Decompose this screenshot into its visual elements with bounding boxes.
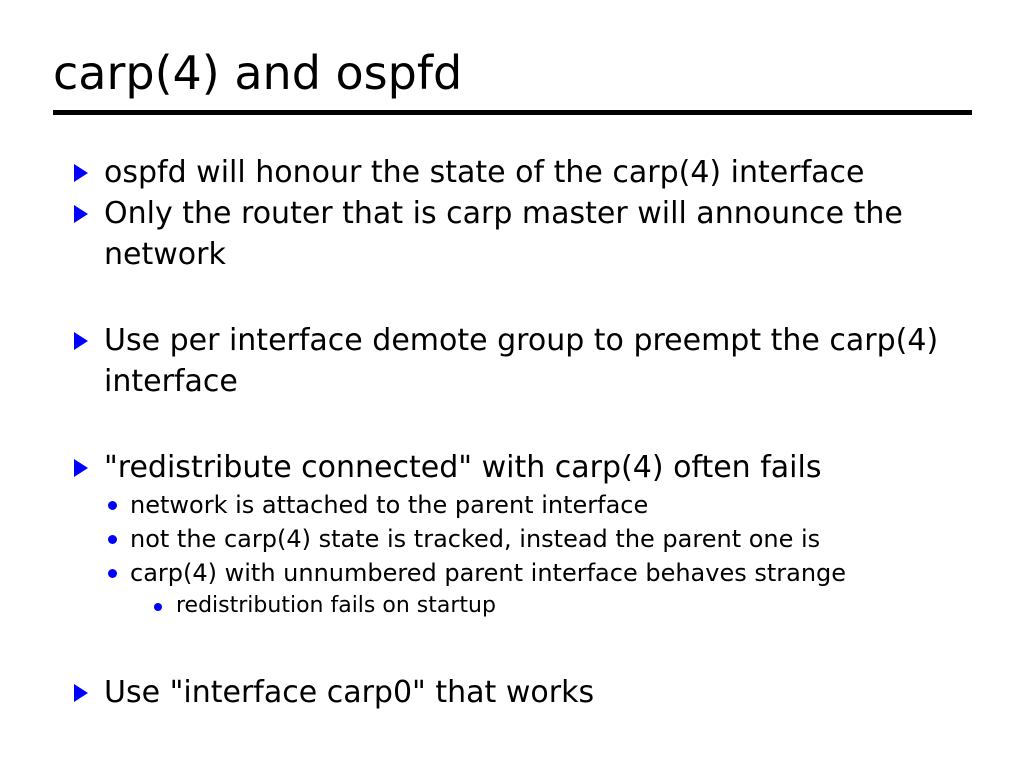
dot-bullet-icon	[108, 569, 117, 578]
spacer	[0, 275, 1024, 320]
list-item-label: not the carp(4) state is tracked, instea…	[130, 522, 984, 556]
list-item: Use per interface demote group to preemp…	[0, 320, 1024, 402]
list-item: network is attached to the parent interf…	[0, 488, 1024, 522]
list-item: "redistribute connected" with carp(4) of…	[0, 447, 1024, 488]
page-title: carp(4) and ospfd	[53, 44, 972, 102]
dot-bullet-icon	[108, 535, 117, 544]
list-item-label: Only the router that is carp master will…	[104, 193, 964, 275]
list-item-label: Use per interface demote group to preemp…	[104, 320, 964, 402]
list-item-label: network is attached to the parent interf…	[130, 488, 984, 522]
spacer	[0, 622, 1024, 672]
slide-body: ospfd will honour the state of the carp(…	[0, 152, 1024, 713]
list-item-label: redistribution fails on startup	[176, 590, 984, 622]
slide-title-block: carp(4) and ospfd	[53, 44, 972, 115]
list-item-label: carp(4) with unnumbered parent interface…	[130, 556, 984, 590]
triangle-bullet-icon	[74, 684, 88, 702]
dot-bullet-icon	[154, 603, 162, 611]
triangle-bullet-icon	[74, 164, 88, 182]
list-item: carp(4) with unnumbered parent interface…	[0, 556, 1024, 590]
list-item: ospfd will honour the state of the carp(…	[0, 152, 1024, 193]
list-item: redistribution fails on startup	[0, 590, 1024, 622]
list-item-label: Use "interface carp0" that works	[104, 672, 964, 713]
dot-bullet-icon	[108, 501, 117, 510]
spacer	[0, 402, 1024, 447]
triangle-bullet-icon	[74, 332, 88, 350]
list-item-label: ospfd will honour the state of the carp(…	[104, 152, 964, 193]
list-item: Only the router that is carp master will…	[0, 193, 1024, 275]
slide: carp(4) and ospfd ospfd will honour the …	[0, 0, 1024, 768]
triangle-bullet-icon	[74, 205, 88, 223]
list-item: Use "interface carp0" that works	[0, 672, 1024, 713]
title-divider	[53, 110, 972, 115]
list-item-label: "redistribute connected" with carp(4) of…	[104, 447, 964, 488]
triangle-bullet-icon	[74, 459, 88, 477]
list-item: not the carp(4) state is tracked, instea…	[0, 522, 1024, 556]
